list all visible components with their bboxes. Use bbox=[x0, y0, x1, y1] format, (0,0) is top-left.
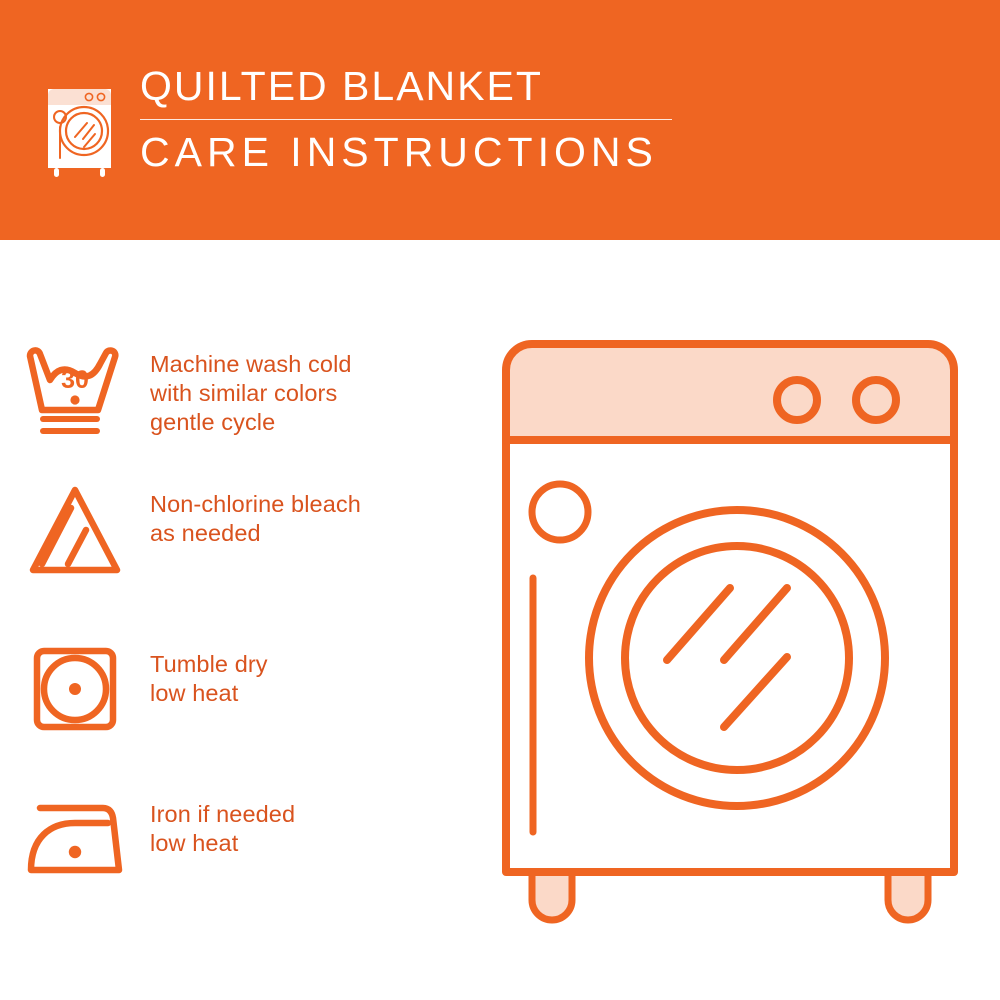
washing-machine-illustration bbox=[492, 330, 968, 940]
care-item-iron: Iron if needed low heat bbox=[0, 788, 480, 890]
header-content: QUILTED BLANKET CARE INSTRUCTIONS bbox=[44, 62, 672, 178]
care-text-line: Machine wash cold bbox=[150, 350, 480, 379]
care-item-text: Tumble dry low heat bbox=[150, 638, 480, 708]
care-text-line: Non-chlorine bleach bbox=[150, 490, 480, 519]
care-text-line: Tumble dry bbox=[150, 650, 480, 679]
care-item-bleach: Non-chlorine bleach as needed bbox=[0, 478, 480, 580]
care-text-line: low heat bbox=[150, 679, 480, 708]
wash-temperature-label: 30 bbox=[61, 366, 89, 394]
page-header: QUILTED BLANKET CARE INSTRUCTIONS bbox=[0, 0, 1000, 240]
care-item-text: Non-chlorine bleach as needed bbox=[150, 478, 480, 548]
washing-machine-icon bbox=[44, 62, 118, 178]
page-title-secondary: CARE INSTRUCTIONS bbox=[140, 129, 672, 175]
title-divider bbox=[140, 119, 672, 120]
care-item-text: Iron if needed low heat bbox=[150, 788, 480, 858]
care-instruction-list: 30 Machine wash cold with similar colors… bbox=[0, 240, 480, 1000]
tumble-dry-icon bbox=[0, 638, 150, 740]
iron-icon bbox=[0, 788, 150, 890]
page-title-primary: QUILTED BLANKET bbox=[140, 64, 672, 108]
bleach-triangle-icon bbox=[0, 478, 150, 580]
care-text-line: low heat bbox=[150, 829, 480, 858]
care-text-line: gentle cycle bbox=[150, 408, 480, 437]
care-item-text: Machine wash cold with similar colors ge… bbox=[150, 338, 480, 437]
care-item-machine-wash: 30 Machine wash cold with similar colors… bbox=[0, 338, 480, 440]
header-title-block: QUILTED BLANKET CARE INSTRUCTIONS bbox=[140, 62, 672, 175]
care-text-line: with similar colors bbox=[150, 379, 480, 408]
care-item-tumble-dry: Tumble dry low heat bbox=[0, 638, 480, 740]
care-text-line: as needed bbox=[150, 519, 480, 548]
care-text-line: Iron if needed bbox=[150, 800, 480, 829]
wash-tub-30-icon: 30 bbox=[0, 338, 150, 440]
